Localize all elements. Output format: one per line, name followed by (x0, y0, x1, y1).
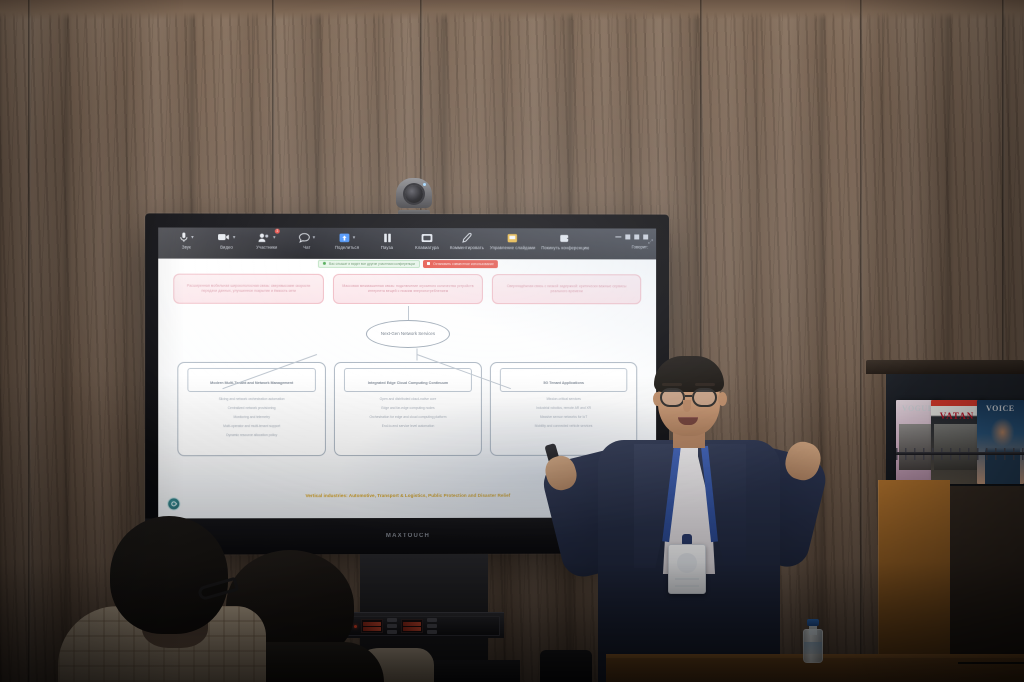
conference-room-photo: VOGUE VATAN VOICE (0, 0, 1024, 682)
photo-vignette (0, 0, 1024, 682)
